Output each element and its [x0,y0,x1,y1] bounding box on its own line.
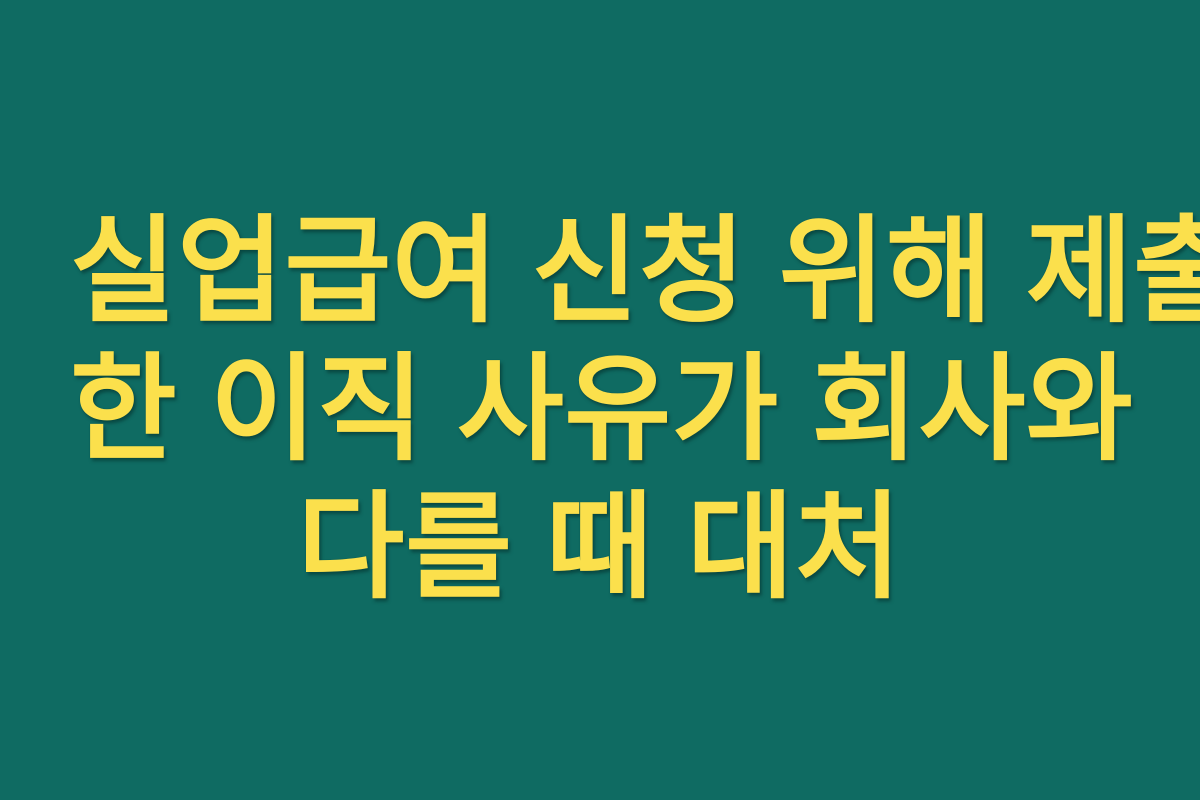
text-thumbnail-card: 실업급여 신청 위해 제출 한 이직 사유가 회사와 다를 때 대처 [0,0,1200,800]
title-line-1: 실업급여 신청 위해 제출 [70,202,1130,340]
title-line-3: 다를 때 대처 [70,478,1130,616]
title-line-2: 한 이직 사유가 회사와 [70,340,1130,478]
page-title: 실업급여 신청 위해 제출 한 이직 사유가 회사와 다를 때 대처 [70,202,1130,616]
